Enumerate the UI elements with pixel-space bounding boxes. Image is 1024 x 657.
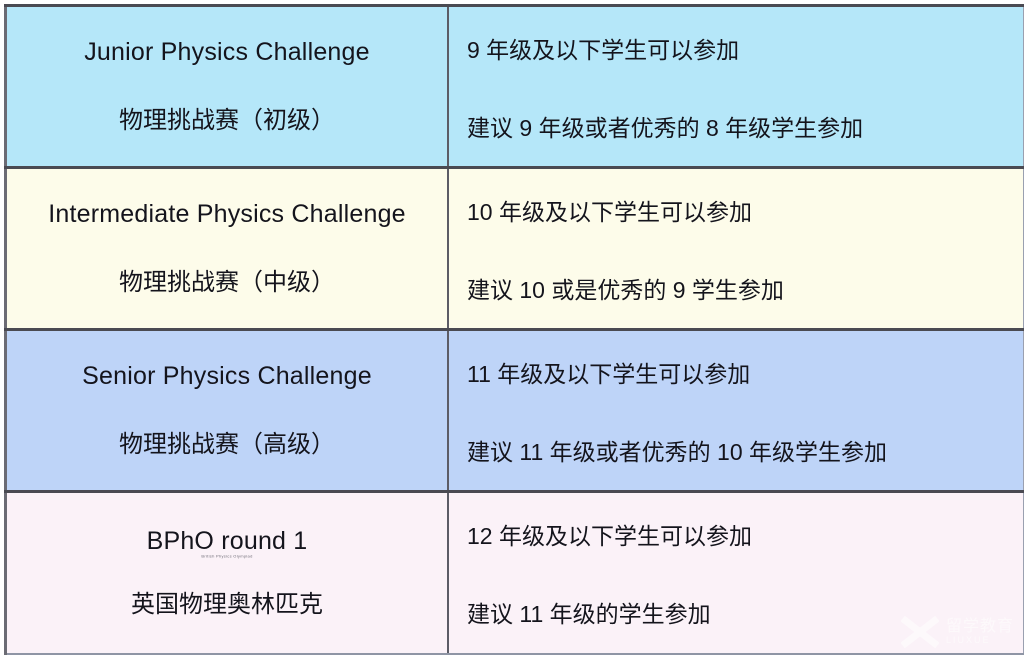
- competition-name-cell: Senior Physics Challenge 物理挑战赛（高级）: [6, 330, 449, 492]
- eligibility-line-2: 建议 11 年级的学生参加: [467, 595, 711, 629]
- eligibility-cell: 11 年级及以下学生可以参加 建议 11 年级或者优秀的 10 年级学生参加: [448, 330, 1024, 492]
- eligibility-cell: 12 年级及以下学生可以参加 建议 11 年级的学生参加: [448, 492, 1024, 654]
- competition-name-cell: Intermediate Physics Challenge 物理挑战赛（中级）: [6, 168, 449, 330]
- table-row: Intermediate Physics Challenge 物理挑战赛（中级）…: [6, 168, 1024, 330]
- competition-name-en: Intermediate Physics Challenge: [48, 200, 406, 229]
- eligibility-line-2: 建议 10 或是优秀的 9 学生参加: [467, 271, 784, 305]
- eligibility-line-2: 建议 9 年级或者优秀的 8 年级学生参加: [467, 109, 863, 143]
- eligibility-line-1: 9 年级及以下学生可以参加: [467, 31, 739, 65]
- eligibility-cell: 9 年级及以下学生可以参加 建议 9 年级或者优秀的 8 年级学生参加: [448, 6, 1024, 168]
- eligibility-line-1: 10 年级及以下学生可以参加: [467, 193, 752, 227]
- table-row: Junior Physics Challenge 物理挑战赛（初级） 9 年级及…: [6, 6, 1024, 168]
- table-row: BPhO round 1 British Physics Olympiad 英国…: [6, 492, 1024, 654]
- competition-name-cn: 英国物理奥林匹克: [131, 591, 323, 619]
- competition-name-cn: 物理挑战赛（初级）: [119, 107, 335, 135]
- competition-name-en: Senior Physics Challenge: [82, 362, 372, 391]
- bpho-logotype: BPhO round 1 British Physics Olympiad: [147, 527, 308, 555]
- eligibility-line-1: 12 年级及以下学生可以参加: [467, 517, 752, 551]
- competition-name-cell: BPhO round 1 British Physics Olympiad 英国…: [6, 492, 449, 654]
- eligibility-line-2: 建议 11 年级或者优秀的 10 年级学生参加: [467, 433, 887, 467]
- competition-name-cn: 物理挑战赛（高级）: [119, 431, 335, 459]
- eligibility-line-1: 11 年级及以下学生可以参加: [467, 355, 750, 389]
- competition-name-cell: Junior Physics Challenge 物理挑战赛（初级）: [6, 6, 449, 168]
- screenshot-root: Junior Physics Challenge 物理挑战赛（初级） 9 年级及…: [0, 0, 1024, 657]
- eligibility-cell: 10 年级及以下学生可以参加 建议 10 或是优秀的 9 学生参加: [448, 168, 1024, 330]
- competition-name-cn: 物理挑战赛（中级）: [119, 269, 335, 297]
- competition-name-subcaption: British Physics Olympiad: [201, 554, 252, 558]
- table-row: Senior Physics Challenge 物理挑战赛（高级） 11 年级…: [6, 330, 1024, 492]
- competition-name-en: Junior Physics Challenge: [84, 38, 370, 67]
- competition-name-en: BPhO round 1: [147, 527, 308, 556]
- competition-eligibility-table: Junior Physics Challenge 物理挑战赛（初级） 9 年级及…: [4, 4, 1024, 655]
